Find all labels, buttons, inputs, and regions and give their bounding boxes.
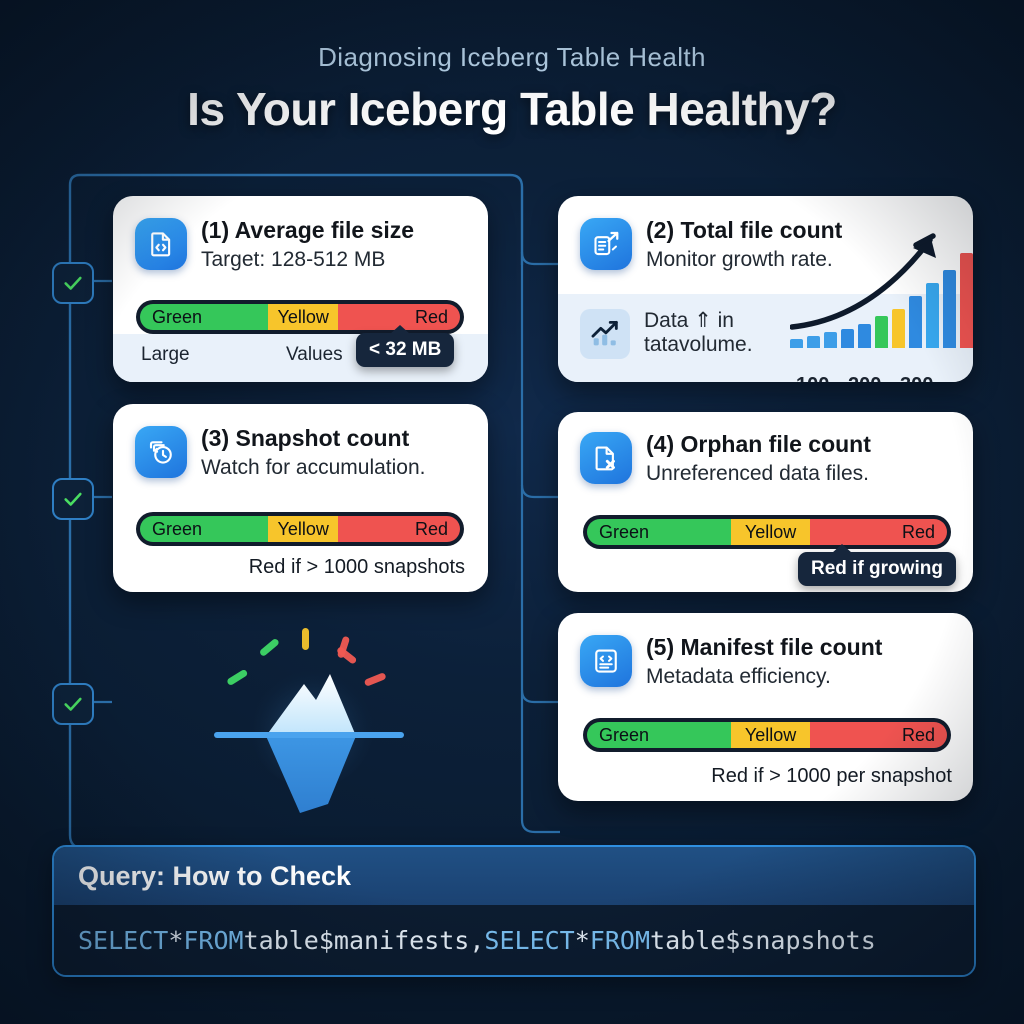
tooltip-arrow [390, 325, 410, 334]
sql-text: table$snapshots [650, 926, 876, 955]
tooltip-threshold: < 32 MB [356, 333, 454, 367]
health-segment-green: Green [140, 516, 268, 542]
chart-bars [790, 253, 973, 348]
card-manifest-file-count[interactable]: (5) Manifest file count Metadata efficie… [558, 613, 973, 801]
chart-bar [875, 316, 888, 348]
page-title: Is Your Iceberg Table Healthy? [0, 82, 1024, 136]
file-code-icon [135, 218, 187, 270]
mini-text-line2: tatavolume. [644, 333, 753, 357]
card-title: (4) Orphan file count [646, 432, 871, 458]
chart-bar [807, 336, 820, 348]
health-segment-yellow: Yellow [268, 516, 338, 542]
check-marker-2 [52, 478, 94, 520]
iceberg-illustration [196, 608, 456, 823]
card-header: (3) Snapshot count Watch for accumulatio… [135, 426, 472, 480]
query-panel-header: Query: How to Check [54, 847, 974, 905]
health-bar: Green Yellow Red [136, 512, 464, 546]
sql-keyword: FROM [183, 926, 243, 955]
health-bar: Green Yellow Red [583, 718, 951, 752]
query-heading: Query: How to Check [78, 861, 351, 892]
card-average-file-size[interactable]: (1) Average file size Target: 128-512 MB… [113, 196, 488, 382]
health-segment-yellow: Yellow [268, 304, 338, 330]
growth-bar-chart: 100200300 [790, 214, 962, 374]
health-segment-green: Green [587, 519, 731, 545]
card-note: Red if > 1000 per snapshot [578, 765, 952, 788]
manifest-doc-icon [580, 635, 632, 687]
query-sql-text[interactable]: SELECT * FROM table$manifests, SELECT * … [54, 905, 974, 975]
mini-text-line1: Data ⇑ in [644, 309, 753, 333]
health-segment-red: Red [810, 519, 947, 545]
chart-bar [841, 329, 854, 348]
card-mini-note: Data ⇑ in tatavolume. [580, 309, 753, 359]
check-icon [62, 272, 84, 294]
tooltip-text: Red if growing [811, 558, 943, 579]
sql-text: table$manifests, [244, 926, 485, 955]
chart-tick-label: 200 [848, 374, 881, 382]
page-kicker: Diagnosing Iceberg Table Health [0, 42, 1024, 73]
card-orphan-file-count[interactable]: (4) Orphan file count Unreferenced data … [558, 412, 973, 592]
chart-tick-label: 300 [900, 374, 933, 382]
chart-bar [960, 253, 973, 348]
health-segment-yellow: Yellow [731, 519, 810, 545]
health-bar: Green Yellow Red [136, 300, 464, 334]
snapshot-history-icon [135, 426, 187, 478]
chart-bar [943, 270, 956, 348]
card-subtitle: Metadata efficiency. [646, 664, 882, 689]
tooltip-threshold: Red if growing [798, 552, 956, 586]
tooltip-arrow [832, 544, 852, 553]
tooltip-text: < 32 MB [369, 339, 441, 360]
trend-up-icon [580, 309, 630, 359]
sql-text: * [168, 926, 183, 955]
file-x-icon [580, 432, 632, 484]
sql-keyword: FROM [590, 926, 650, 955]
health-segment-green: Green [587, 722, 731, 748]
chart-bar [926, 283, 939, 348]
check-icon [62, 488, 84, 510]
check-marker-3 [52, 683, 94, 725]
health-segment-yellow: Yellow [731, 722, 810, 748]
chart-bar [790, 339, 803, 348]
card-subtitle: Watch for accumulation. [201, 455, 425, 480]
sql-text: * [575, 926, 590, 955]
sql-keyword: SELECT [78, 926, 168, 955]
card-header: (1) Average file size Target: 128-512 MB [135, 218, 472, 272]
check-icon [62, 693, 84, 715]
legend-label-values: Values [286, 344, 343, 366]
legend-label-large: Large [141, 344, 286, 366]
chart-bar [858, 324, 871, 348]
card-title: (5) Manifest file count [646, 635, 882, 661]
chart-bar [824, 332, 837, 348]
query-panel[interactable]: Query: How to Check SELECT * FROM table$… [52, 845, 976, 977]
card-snapshot-count[interactable]: (3) Snapshot count Watch for accumulatio… [113, 404, 488, 592]
card-title: (1) Average file size [201, 218, 414, 244]
check-marker-1 [52, 262, 94, 304]
chart-bar [909, 296, 922, 348]
health-segment-red: Red [338, 516, 460, 542]
card-total-file-count[interactable]: (2) Total file count Monitor growth rate… [558, 196, 973, 382]
sql-keyword: SELECT [484, 926, 574, 955]
health-segment-green: Green [140, 304, 268, 330]
chart-bar [892, 309, 905, 348]
health-segment-red: Red [810, 722, 947, 748]
health-bar: Green Yellow Red [583, 515, 951, 549]
chart-tick-label: 100 [796, 374, 829, 382]
card-note: Red if > 1000 snapshots [133, 556, 465, 579]
card-subtitle: Target: 128-512 MB [201, 247, 414, 272]
document-growth-icon [580, 218, 632, 270]
card-title: (3) Snapshot count [201, 426, 425, 452]
card-header: (4) Orphan file count Unreferenced data … [580, 432, 957, 486]
card-header: (5) Manifest file count Metadata efficie… [580, 635, 957, 689]
card-subtitle: Unreferenced data files. [646, 461, 871, 486]
